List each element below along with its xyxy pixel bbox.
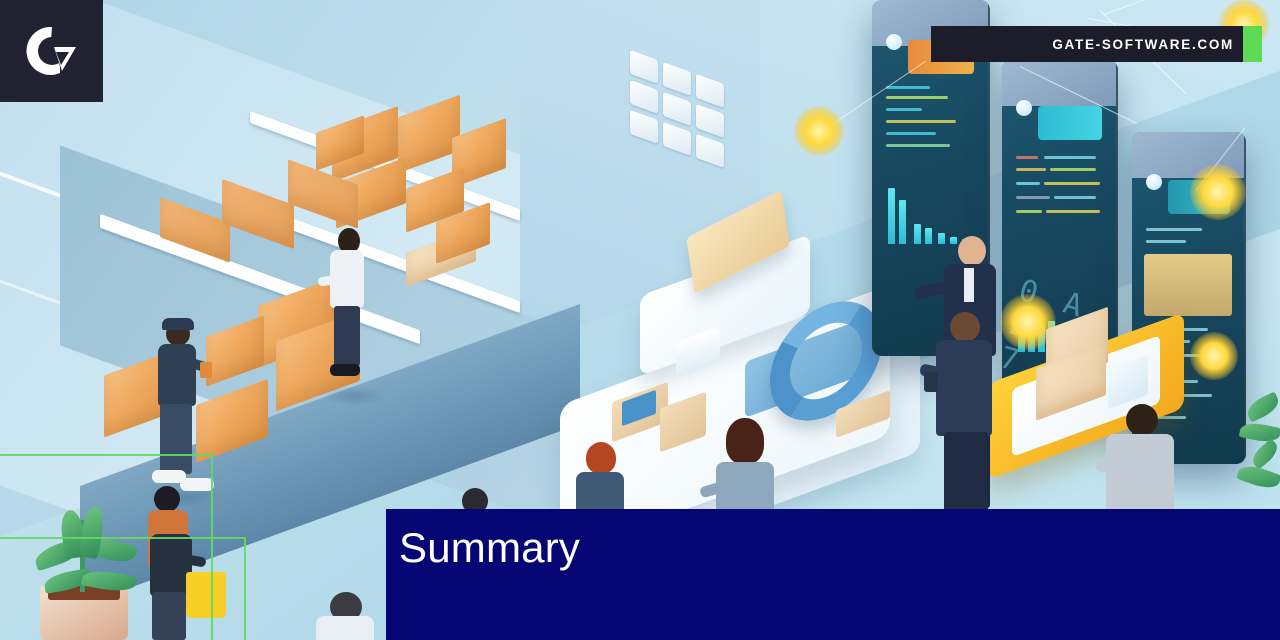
website-url-text: GATE-SOFTWARE.COM: [1052, 37, 1262, 52]
phone-device: [924, 372, 938, 392]
url-banner-accent-bar: [1243, 26, 1262, 62]
grid-line-vertical-1: [211, 454, 213, 640]
summary-title: Summary: [399, 522, 580, 574]
grid-line-vertical-2: [244, 537, 246, 640]
grid-line-horizontal-2: [0, 537, 246, 539]
glow-node: [794, 106, 844, 156]
gate-logo-icon: [24, 23, 80, 79]
slide-canvas: 0 A 2 0 7 9: [0, 0, 1280, 640]
gate-logo-badge[interactable]: [0, 0, 103, 102]
website-url-banner: GATE-SOFTWARE.COM: [931, 26, 1262, 62]
grid-line-horizontal-1: [0, 454, 213, 456]
summary-banner: Summary: [386, 509, 1280, 640]
glow-node: [1190, 332, 1238, 380]
glow-node: [1190, 164, 1246, 220]
